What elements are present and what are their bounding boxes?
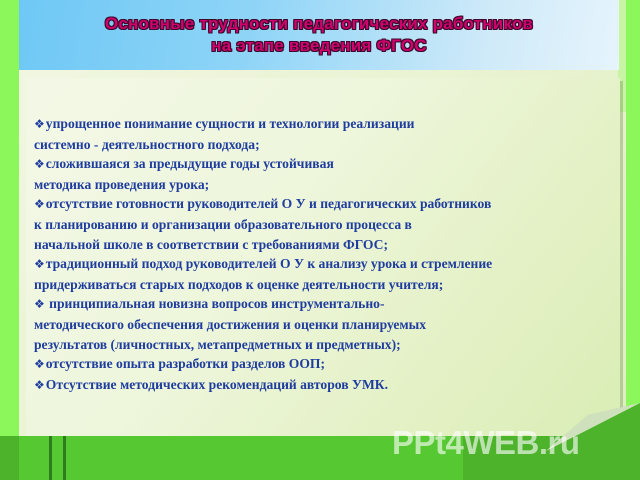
body-text: отсутствие готовности руководителей О У … xyxy=(46,196,492,211)
bottom-band-segment-main xyxy=(52,436,463,480)
body-text: методического обеспечения достижения и о… xyxy=(34,317,426,332)
body-item-4: ❖ принципиальная новизна вопросов инстру… xyxy=(34,294,622,315)
diamond-bullet-icon: ❖ xyxy=(34,357,45,371)
body-text: традиционный подход руководителей О У к … xyxy=(46,256,492,271)
diamond-bullet-icon: ❖ xyxy=(34,378,45,392)
slide-title-box: Основные трудности педагогических работн… xyxy=(19,0,619,70)
body-item-2-cont: начальной школе в соответствии с требова… xyxy=(34,235,622,255)
body-text: сложившаяся за предыдущие годы устойчива… xyxy=(46,156,334,171)
diamond-bullet-icon: ❖ xyxy=(34,157,45,171)
body-text: отсутствие опыта разработки разделов ООП… xyxy=(46,356,325,371)
content-body-list: ❖упрощенное понимание сущности и техноло… xyxy=(26,114,626,395)
slide-title-line-1: Основные трудности педагогических работн… xyxy=(105,13,533,35)
body-item-3-cont: придерживаться старых подходов к оценке … xyxy=(34,275,622,295)
diamond-bullet-icon: ❖ xyxy=(34,197,45,211)
body-text: к планированию и организации образовател… xyxy=(34,217,412,232)
body-item-4-cont: методического обеспечения достижения и о… xyxy=(34,315,622,335)
body-text: начальной школе в соответствии с требова… xyxy=(34,237,388,252)
body-text: принципиальная новизна вопросов инструме… xyxy=(46,296,385,311)
bottom-band-divider-1 xyxy=(49,436,52,480)
body-text: системно - деятельностного подхода; xyxy=(34,137,260,152)
slide-title: Основные трудности педагогических работн… xyxy=(105,13,533,57)
body-item-6: ❖Отсутствие методических рекомендаций ав… xyxy=(34,375,622,396)
body-text: упрощенное понимание сущности и технолог… xyxy=(46,116,415,131)
bottom-band-segment-left xyxy=(19,436,49,480)
body-item-0-cont: системно - деятельностного подхода; xyxy=(34,135,622,155)
bottom-band-divider-2 xyxy=(63,436,66,480)
slide-title-line-2: на этапе введения ФГОС xyxy=(105,35,533,57)
body-item-4-cont: результатов (личностных, метапредметных … xyxy=(34,335,622,355)
body-item-2-cont: к планированию и организации образовател… xyxy=(34,215,622,235)
body-item-3: ❖традиционный подход руководителей О У к… xyxy=(34,254,622,275)
presentation-slide: Основные трудности педагогических работн… xyxy=(0,0,640,480)
body-item-0: ❖упрощенное понимание сущности и техноло… xyxy=(34,114,622,135)
body-item-2: ❖отсутствие готовности руководителей О У… xyxy=(34,194,622,215)
body-item-1: ❖сложившаяся за предыдущие годы устойчив… xyxy=(34,154,622,175)
left-green-border xyxy=(0,0,19,480)
diamond-bullet-icon: ❖ xyxy=(34,257,45,271)
body-item-5: ❖отсутствие опыта разработки разделов ОО… xyxy=(34,354,622,375)
diamond-bullet-icon: ❖ xyxy=(34,297,45,311)
body-text: придерживаться старых подходов к оценке … xyxy=(34,277,443,292)
body-text: результатов (личностных, метапредметных … xyxy=(34,337,401,352)
body-text: Отсутствие методических рекомендаций авт… xyxy=(46,377,388,392)
right-green-border xyxy=(626,0,640,480)
body-text: методика проведения урока; xyxy=(34,177,209,192)
body-item-1-cont: методика проведения урока; xyxy=(34,175,622,195)
diamond-bullet-icon: ❖ xyxy=(34,117,45,131)
